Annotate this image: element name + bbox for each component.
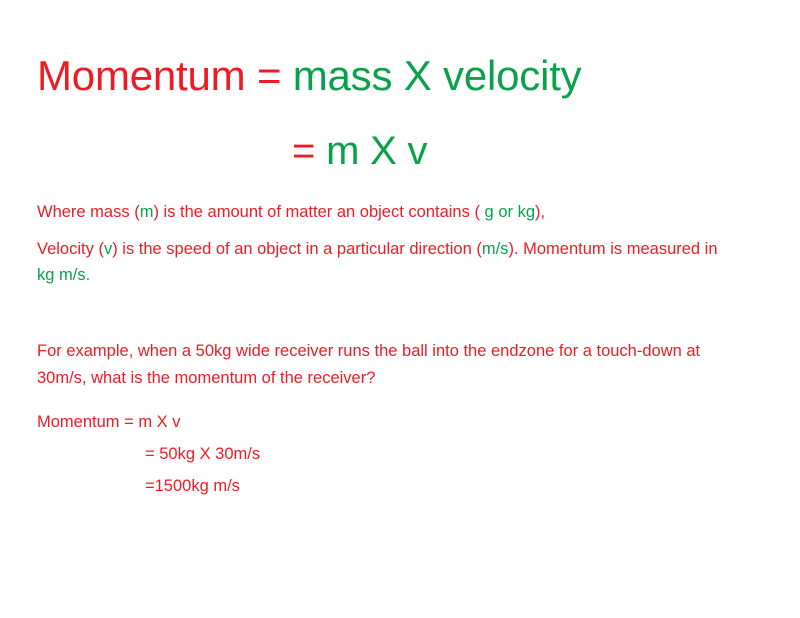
calculation-line-result: =1500kg m/s (37, 470, 737, 502)
velocity-definition-lead: Velocity (37, 240, 98, 258)
mass-definition-middle: is the amount of matter an object contai… (159, 203, 475, 221)
title-definition-mass-times-velocity: mass X velocity (293, 52, 582, 99)
mass-unit-grams: g (485, 203, 494, 221)
momentum-measured-lead: Momentum is measured in (519, 240, 718, 258)
mass-unit-kilograms: kg (518, 203, 535, 221)
definitions-block: Where mass (m) is the amount of matter a… (37, 199, 737, 288)
title-term-momentum: Momentum (37, 52, 245, 99)
example-block: For example, when a 50kg wide receiver r… (37, 338, 737, 392)
velocity-unit: m/s (482, 240, 509, 258)
velocity-symbol: v (104, 240, 112, 258)
mass-symbol: m (140, 203, 154, 221)
mass-unit-open-paren: ( (474, 203, 484, 221)
title-formula-m-times-v: m X v (326, 129, 427, 173)
calculation-block: Momentum = m X v = 50kg X 30m/s =1500kg … (37, 406, 737, 502)
velocity-definition-paragraph: Velocity (v) is the speed of an object i… (37, 236, 732, 288)
mass-definition-paragraph: Where mass (m) is the amount of matter a… (37, 199, 732, 225)
mass-definition-lead: Where mass (37, 203, 134, 221)
title-equals-sign: = (245, 52, 292, 99)
title-equals-sign-2: = (292, 129, 326, 173)
velocity-unit-close-paren: ). (508, 240, 518, 258)
velocity-definition-middle: is the speed of an object in a particula… (118, 240, 477, 258)
momentum-unit: kg m/s. (37, 266, 90, 284)
title-line-secondary: = m X v (292, 126, 427, 176)
slide-canvas: Momentum = mass X velocity = m X v Where… (0, 0, 800, 618)
calculation-line-formula: Momentum = m X v (37, 406, 737, 438)
example-question-paragraph: For example, when a 50kg wide receiver r… (37, 338, 732, 392)
calculation-line-substitution: = 50kg X 30m/s (37, 438, 737, 470)
mass-unit-separator: or (494, 203, 518, 221)
title-line-primary: Momentum = mass X velocity (37, 50, 581, 102)
mass-definition-tail: , (541, 203, 546, 221)
